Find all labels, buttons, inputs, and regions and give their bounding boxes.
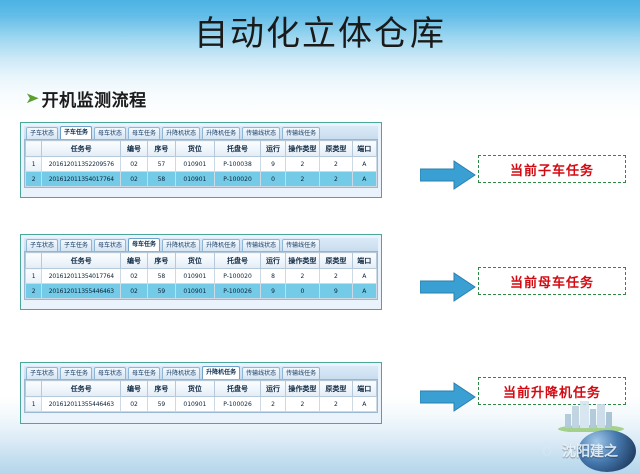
cell-原类型: 9 [320, 284, 352, 299]
table-row[interactable]: 12016120113540177640258010901P-100020822… [26, 269, 377, 284]
cell-序号: 59 [147, 284, 175, 299]
monitor-panel-3: 子车状态子车任务母车状态母车任务升降机状态升降机任务传输线状态传输线任务 任务号… [20, 362, 382, 424]
column-header-货位[interactable]: 货位 [176, 141, 215, 157]
cell-操作类型: 2 [285, 157, 319, 172]
column-header-编号[interactable]: 编号 [121, 381, 147, 397]
tab-升降机任务[interactable]: 升降机任务 [202, 366, 240, 379]
row-index: 2 [26, 172, 42, 187]
cell-货位: 010901 [176, 157, 215, 172]
watermark-text: 沈阳建之 [562, 441, 618, 461]
page-title: 自动化立体仓库 [0, 12, 640, 56]
task-grid-2: 任务号编号序号货位托盘号运行操作类型原类型端口 1201612011354017… [25, 252, 377, 299]
cell-编号: 02 [121, 397, 147, 412]
tab-升降机任务[interactable]: 升降机任务 [202, 127, 240, 139]
flow-arrow-3 [420, 382, 476, 412]
slide-background: 自动化立体仓库 ➤ 开机监测流程 子车状态子车任务母车状态母车任务升降机状态升降… [0, 0, 640, 474]
tab-升降机状态[interactable]: 升降机状态 [162, 239, 200, 251]
column-header-编号[interactable]: 编号 [121, 253, 147, 269]
monitor-panel-1: 子车状态子车任务母车状态母车任务升降机状态升降机任务传输线状态传输线任务 任务号… [20, 122, 382, 198]
task-grid-header-2: 任务号编号序号货位托盘号运行操作类型原类型端口 [26, 253, 377, 269]
cell-序号: 58 [147, 172, 175, 187]
cell-端口: A [352, 397, 376, 412]
tab-升降机状态[interactable]: 升降机状态 [162, 367, 200, 379]
cell-任务号: 201612011354017764 [42, 269, 121, 284]
tab-母车任务[interactable]: 母车任务 [128, 238, 160, 251]
tab-母车任务[interactable]: 母车任务 [128, 367, 160, 379]
task-grid-header-3: 任务号编号序号货位托盘号运行操作类型原类型端口 [26, 381, 377, 397]
tab-子车状态[interactable]: 子车状态 [26, 239, 58, 251]
tab-子车状态[interactable]: 子车状态 [26, 367, 58, 379]
row-index: 2 [26, 284, 42, 299]
cell-托盘号: P-100026 [214, 284, 261, 299]
column-header-托盘号[interactable]: 托盘号 [214, 253, 261, 269]
column-header-端口[interactable]: 端口 [352, 381, 376, 397]
cell-货位: 010901 [176, 397, 215, 412]
column-header-端口[interactable]: 端口 [352, 253, 376, 269]
row-index: 1 [26, 269, 42, 284]
cell-货位: 010901 [176, 172, 215, 187]
column-header-序号[interactable]: 序号 [147, 253, 175, 269]
row-index: 1 [26, 157, 42, 172]
cell-端口: A [352, 157, 376, 172]
cell-运行: 9 [261, 157, 285, 172]
flow-arrow-1 [420, 160, 476, 190]
cell-运行: 9 [261, 284, 285, 299]
column-header-操作类型[interactable]: 操作类型 [285, 253, 319, 269]
column-header-序号[interactable]: 序号 [147, 381, 175, 397]
cell-端口: A [352, 172, 376, 187]
column-header-rownum [26, 141, 42, 157]
cell-操作类型: 2 [285, 269, 319, 284]
tab-strip-2[interactable]: 子车状态子车任务母车状态母车任务升降机状态升降机任务传输线状态传输线任务 [24, 238, 378, 252]
cell-货位: 010901 [176, 269, 215, 284]
tab-strip-3[interactable]: 子车状态子车任务母车状态母车任务升降机状态升降机任务传输线状态传输线任务 [24, 366, 378, 380]
arrow-bullet-icon: ➤ [25, 91, 39, 106]
cell-原类型: 2 [320, 269, 352, 284]
task-grid-body-3: 12016120113554464630259010901P-100026222… [26, 397, 377, 412]
column-header-原类型[interactable]: 原类型 [320, 381, 352, 397]
column-header-运行[interactable]: 运行 [261, 381, 285, 397]
tab-母车状态[interactable]: 母车状态 [94, 127, 126, 139]
table-row[interactable]: 12016120113522095760257010901P-100038922… [26, 157, 377, 172]
tab-strip-1[interactable]: 子车状态子车任务母车状态母车任务升降机状态升降机任务传输线状态传输线任务 [24, 126, 378, 140]
column-header-货位[interactable]: 货位 [176, 381, 215, 397]
cell-原类型: 2 [320, 157, 352, 172]
cell-编号: 02 [121, 157, 147, 172]
column-header-运行[interactable]: 运行 [261, 141, 285, 157]
monitor-panel-2: 子车状态子车任务母车状态母车任务升降机状态升降机任务传输线状态传输线任务 任务号… [20, 234, 382, 310]
tab-升降机状态[interactable]: 升降机状态 [162, 127, 200, 139]
callout-current-shuttle-task: 当前子车任务 [478, 155, 626, 183]
tab-传输线状态[interactable]: 传输线状态 [242, 127, 280, 139]
tab-母车任务[interactable]: 母车任务 [128, 127, 160, 139]
column-header-原类型[interactable]: 原类型 [320, 253, 352, 269]
column-header-端口[interactable]: 端口 [352, 141, 376, 157]
tab-升降机任务[interactable]: 升降机任务 [202, 239, 240, 251]
cell-货位: 010901 [176, 284, 215, 299]
section-heading: ➤ 开机监测流程 [26, 86, 147, 111]
task-grid-wrapper-2: 任务号编号序号货位托盘号运行操作类型原类型端口 1201612011354017… [24, 252, 378, 300]
tab-子车任务[interactable]: 子车任务 [60, 239, 92, 251]
cell-任务号: 201612011352209576 [42, 157, 121, 172]
section-heading-label: 开机监测流程 [42, 86, 147, 111]
cell-操作类型: 0 [285, 284, 319, 299]
tab-母车状态[interactable]: 母车状态 [94, 367, 126, 379]
cell-编号: 02 [121, 269, 147, 284]
column-header-托盘号[interactable]: 托盘号 [214, 141, 261, 157]
task-grid-1: 任务号编号序号货位托盘号运行操作类型原类型端口 1201612011352209… [25, 140, 377, 187]
cell-编号: 02 [121, 172, 147, 187]
cell-编号: 02 [121, 284, 147, 299]
column-header-rownum [26, 253, 42, 269]
column-header-rownum [26, 381, 42, 397]
cell-原类型: 2 [320, 397, 352, 412]
column-header-序号[interactable]: 序号 [147, 141, 175, 157]
cell-托盘号: P-100026 [214, 397, 261, 412]
callout-label-2: 当前母车任务 [510, 272, 594, 291]
table-row[interactable]: 22016120113540177640258010901P-100020022… [26, 172, 377, 187]
task-grid-wrapper-1: 任务号编号序号货位托盘号运行操作类型原类型端口 1201612011352209… [24, 140, 378, 188]
task-grid-wrapper-3: 任务号编号序号货位托盘号运行操作类型原类型端口 1201612011355446… [24, 380, 378, 413]
column-header-任务号[interactable]: 任务号 [42, 381, 121, 397]
column-header-操作类型[interactable]: 操作类型 [285, 141, 319, 157]
cell-托盘号: P-100020 [214, 269, 261, 284]
cell-序号: 57 [147, 157, 175, 172]
cell-原类型: 2 [320, 172, 352, 187]
table-row[interactable]: 22016120113554464630259010901P-100026909… [26, 284, 377, 299]
cell-运行: 8 [261, 269, 285, 284]
watermark-logo: 〈〉 沈阳建之 [470, 428, 640, 474]
column-header-原类型[interactable]: 原类型 [320, 141, 352, 157]
task-grid-3: 任务号编号序号货位托盘号运行操作类型原类型端口 1201612011355446… [25, 380, 377, 412]
tab-子车任务[interactable]: 子车任务 [60, 126, 92, 139]
task-grid-body-2: 12016120113540177640258010901P-100020822… [26, 269, 377, 299]
cell-任务号: 201612011355446463 [42, 284, 121, 299]
watermark-mark-icon: 〈〉 [536, 443, 558, 459]
flow-arrow-2 [420, 272, 476, 302]
task-grid-body-1: 12016120113522095760257010901P-100038922… [26, 157, 377, 187]
cell-操作类型: 2 [285, 172, 319, 187]
tab-传输线任务[interactable]: 传输线任务 [282, 127, 320, 139]
cell-托盘号: P-100038 [214, 157, 261, 172]
cell-操作类型: 2 [285, 397, 319, 412]
tab-传输线状态[interactable]: 传输线状态 [242, 239, 280, 251]
cell-端口: A [352, 284, 376, 299]
cell-任务号: 201612011354017764 [42, 172, 121, 187]
tab-传输线任务[interactable]: 传输线任务 [282, 367, 320, 379]
callout-label-1: 当前子车任务 [510, 160, 594, 179]
tab-子车状态[interactable]: 子车状态 [26, 127, 58, 139]
table-row[interactable]: 12016120113554464630259010901P-100026222… [26, 397, 377, 412]
tab-传输线任务[interactable]: 传输线任务 [282, 239, 320, 251]
tab-传输线状态[interactable]: 传输线状态 [242, 367, 280, 379]
cell-托盘号: P-100020 [214, 172, 261, 187]
column-header-任务号[interactable]: 任务号 [42, 141, 121, 157]
callout-current-mother-car-task: 当前母车任务 [478, 267, 626, 295]
task-grid-header-1: 任务号编号序号货位托盘号运行操作类型原类型端口 [26, 141, 377, 157]
cell-序号: 58 [147, 269, 175, 284]
cell-端口: A [352, 269, 376, 284]
cell-运行: 2 [261, 397, 285, 412]
column-header-运行[interactable]: 运行 [261, 253, 285, 269]
cell-任务号: 201612011355446463 [42, 397, 121, 412]
column-header-托盘号[interactable]: 托盘号 [214, 381, 261, 397]
cell-运行: 0 [261, 172, 285, 187]
cell-序号: 59 [147, 397, 175, 412]
column-header-编号[interactable]: 编号 [121, 141, 147, 157]
column-header-操作类型[interactable]: 操作类型 [285, 381, 319, 397]
row-index: 1 [26, 397, 42, 412]
column-header-货位[interactable]: 货位 [176, 253, 215, 269]
tab-母车状态[interactable]: 母车状态 [94, 239, 126, 251]
skyline-decoration-icon [556, 398, 626, 432]
column-header-任务号[interactable]: 任务号 [42, 253, 121, 269]
tab-子车任务[interactable]: 子车任务 [60, 367, 92, 379]
